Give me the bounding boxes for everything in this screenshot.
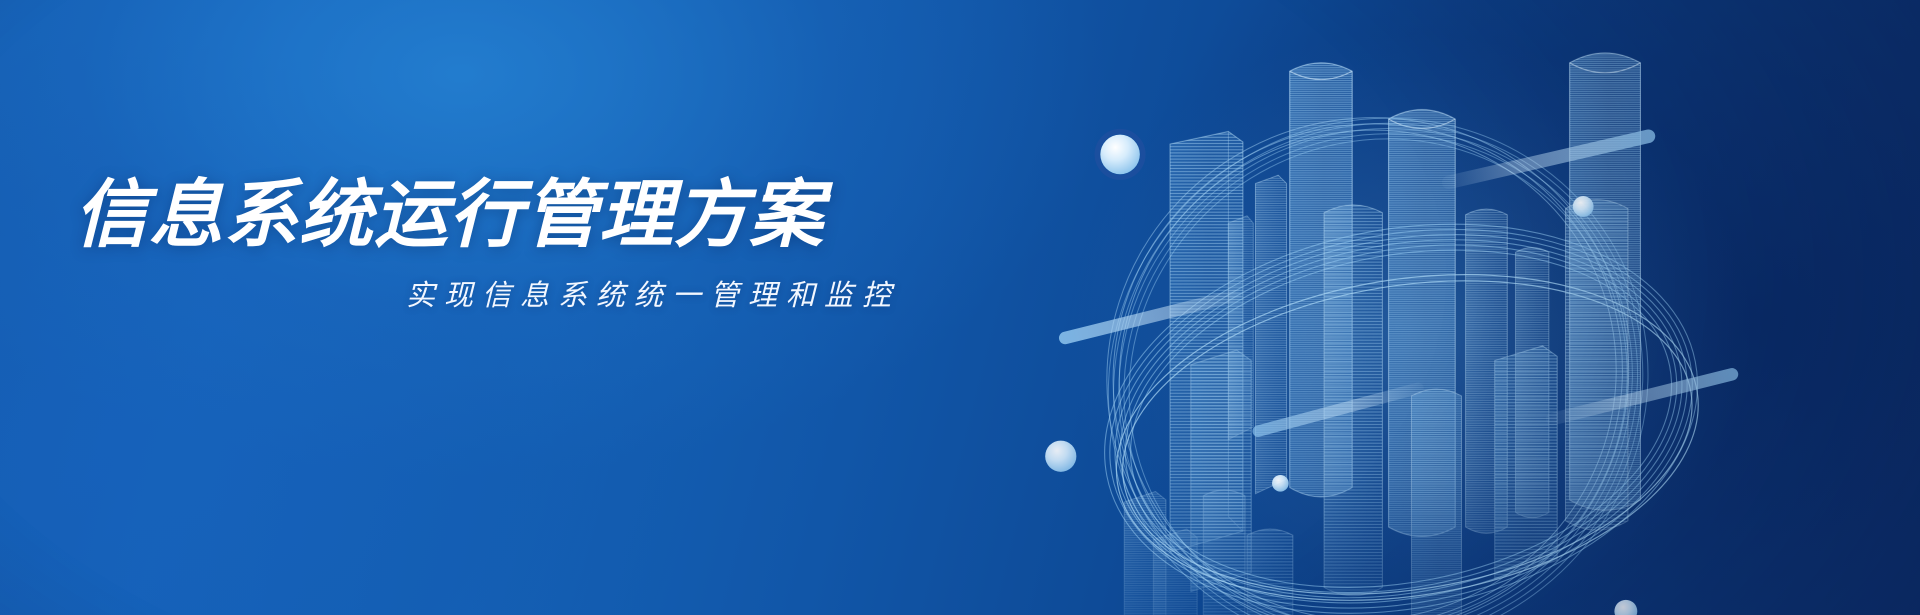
tower-slab-right: [1495, 346, 1557, 579]
tower-front-block-6: [1411, 389, 1461, 615]
banner-subtitle: 实现信息系统统一管理和监控: [74, 272, 934, 314]
tower-thin-spire-left: [1255, 175, 1286, 493]
banner-root: 信息系统运行管理方案 实现信息系统统一管理和监控: [0, 0, 1920, 615]
wireframe-city-illustration: [930, 0, 1920, 615]
glow-dot-tiny-center: [1272, 475, 1289, 492]
banner-title: 信息系统运行管理方案: [74, 178, 934, 252]
glow-dot-mid-left: [1045, 441, 1076, 472]
banner-text-block: 信息系统运行管理方案 实现信息系统统一管理和监控: [74, 178, 934, 314]
glow-dot-small-upper-right: [1573, 196, 1594, 217]
glow-dot-small-right: [1614, 600, 1637, 615]
glow-dot-large-upper-left: [1097, 132, 1143, 178]
